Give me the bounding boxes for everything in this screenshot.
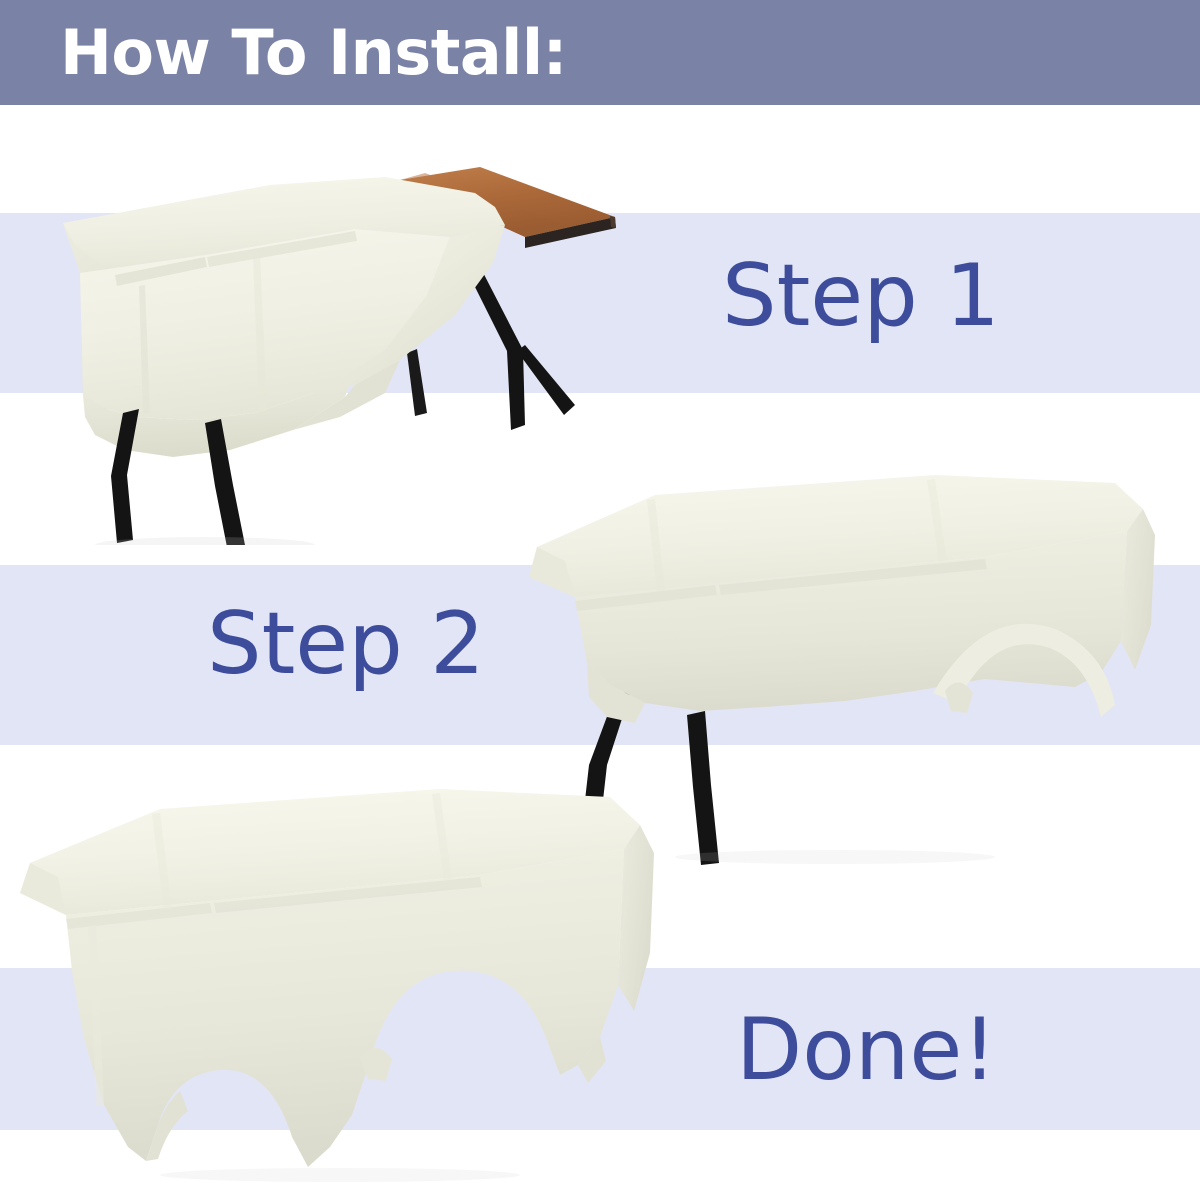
table-leg bbox=[407, 349, 427, 416]
step-1-caption: Step 1 bbox=[722, 248, 1000, 344]
table-leg bbox=[463, 257, 575, 430]
step-3-illustration bbox=[0, 775, 680, 1185]
step-3-caption: Done! bbox=[736, 1002, 997, 1098]
page-title: How To Install: bbox=[60, 11, 567, 95]
ivory-stretch-cover-complete bbox=[20, 789, 654, 1167]
step-2-caption: Step 2 bbox=[207, 596, 485, 692]
how-to-install-infographic: How To Install: bbox=[0, 0, 1200, 1186]
header-band: How To Install: bbox=[0, 0, 1200, 105]
ivory-stretch-cover-fitted bbox=[529, 475, 1155, 723]
